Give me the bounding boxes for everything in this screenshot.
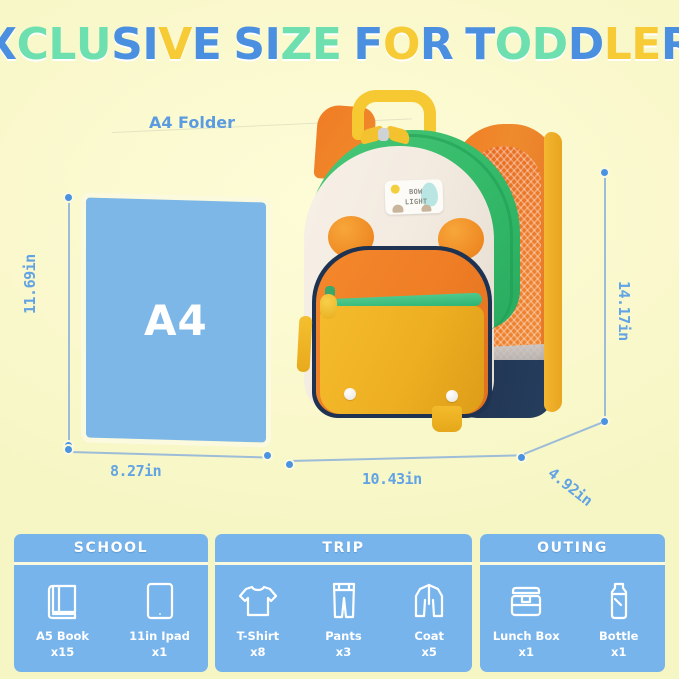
panel-header-outing: OUTING xyxy=(480,534,665,562)
backpack-snap-left xyxy=(344,388,356,400)
a4-folder-face-text: A4 xyxy=(144,295,208,344)
size-comparison-stage: A4 Folder A4 11.69in 8.27in BOWLIGHT xyxy=(0,80,679,520)
a4-height-dimension-line xyxy=(68,197,70,445)
item-qty: x15 xyxy=(51,645,74,661)
title-letter xyxy=(221,23,233,67)
title-letter: S xyxy=(233,23,264,67)
list-item: Pants x3 xyxy=(301,579,387,660)
a4-width-dot-right xyxy=(262,450,273,461)
a4-width-dot-left xyxy=(63,444,74,455)
a4-width-label: 8.27in xyxy=(110,462,161,480)
book-icon xyxy=(46,579,80,623)
item-label: Bottle xyxy=(599,629,638,645)
list-item: Bottle x1 xyxy=(576,579,662,660)
backpack-zipper-pull xyxy=(320,294,337,319)
panel-header-school: SCHOOL xyxy=(14,534,208,562)
item-label: A5 Book xyxy=(36,629,89,645)
title-letter xyxy=(341,23,353,67)
page-title: EXCLUSIVE SIZE FOR TODDLERS xyxy=(0,16,679,74)
title-letter: L xyxy=(604,23,632,67)
backpack-height-dot-top xyxy=(599,167,610,178)
item-qty: x3 xyxy=(336,645,351,661)
item-label: Coat xyxy=(414,629,444,645)
panel-title-outing: OUTING xyxy=(537,540,608,556)
title-letter: U xyxy=(76,23,111,67)
capacity-panel-outing: OUTING Lunch Box x1 xyxy=(480,534,665,672)
title-letter: R xyxy=(420,23,453,67)
panel-title-trip: TRIP xyxy=(322,540,364,556)
item-label: 11in Ipad xyxy=(129,629,190,645)
backpack-width-dot-left xyxy=(284,459,295,470)
panel-body-outing: Lunch Box x1 Bottle x1 xyxy=(480,565,665,672)
a4-height-label: 11.69in xyxy=(21,254,39,314)
list-item: 11in Ipad x1 xyxy=(117,579,203,660)
title-letter: X xyxy=(0,23,17,67)
title-letter: E xyxy=(192,23,222,67)
item-qty: x8 xyxy=(250,645,265,661)
title-letter: R xyxy=(661,23,679,67)
title-letter xyxy=(453,23,465,67)
patch-rock-right xyxy=(421,204,431,211)
capacity-panel-trip: TRIP T-Shirt x8 xyxy=(215,534,472,672)
title-letter: E xyxy=(312,23,342,67)
lunchbox-icon xyxy=(507,579,545,623)
bottle-icon xyxy=(607,579,631,623)
title-letter: D xyxy=(532,23,568,67)
a4-height-dot-top xyxy=(63,192,74,203)
list-item: T-Shirt x8 xyxy=(215,579,301,660)
backpack-height-dimension-line xyxy=(604,172,606,420)
title-letter: S xyxy=(111,23,142,67)
backpack-snap-right xyxy=(446,390,458,402)
backpack-bow-center xyxy=(378,128,389,141)
title-letter: O xyxy=(383,23,420,67)
panel-header-trip: TRIP xyxy=(215,534,472,562)
title-letter: C xyxy=(17,23,49,67)
item-qty: x1 xyxy=(519,645,534,661)
title-letter: D xyxy=(568,23,604,67)
item-qty: x1 xyxy=(611,645,626,661)
a4-width-dimension-line xyxy=(70,451,270,458)
page-title-text: EXCLUSIVE SIZE FOR TODDLERS xyxy=(0,23,679,67)
title-letter: O xyxy=(495,23,532,67)
pants-icon xyxy=(329,579,359,623)
title-letter: I xyxy=(142,23,158,67)
title-letter: V xyxy=(158,23,192,67)
backpack-yellow-trim xyxy=(544,132,562,412)
item-label: Lunch Box xyxy=(493,629,560,645)
list-item: Lunch Box x1 xyxy=(483,579,569,660)
title-letter: T xyxy=(465,23,495,67)
tablet-icon xyxy=(145,579,175,623)
title-letter: L xyxy=(48,23,76,67)
backpack-bottom-strap xyxy=(432,406,462,432)
item-label: T-Shirt xyxy=(237,629,280,645)
coat-icon xyxy=(413,579,445,623)
tshirt-icon xyxy=(238,579,278,623)
a4-folder-label: A4 Folder xyxy=(112,113,272,132)
a4-folder-sheet: A4 xyxy=(86,197,266,442)
title-letter: Z xyxy=(280,23,311,67)
panel-body-school: A5 Book x15 11in Ipad x1 xyxy=(14,565,208,672)
item-qty: x1 xyxy=(152,645,167,661)
list-item: Coat x5 xyxy=(386,579,472,660)
title-letter: F xyxy=(353,23,383,67)
title-letter: E xyxy=(631,23,661,67)
panel-title-school: SCHOOL xyxy=(74,540,148,556)
item-qty: x5 xyxy=(421,645,436,661)
capacity-panels: SCHOOL A5 Book x15 xyxy=(0,534,679,674)
list-item: A5 Book x15 xyxy=(20,579,106,660)
backpack-depth-label: 4.92in xyxy=(544,464,595,510)
panel-body-trip: T-Shirt x8 Pants x3 xyxy=(215,565,472,672)
title-letter: I xyxy=(265,23,281,67)
backpack-width-label: 10.43in xyxy=(362,470,422,488)
backpack-product-image: BOWLIGHT xyxy=(300,88,600,458)
item-label: Pants xyxy=(325,629,361,645)
backpack-logo-patch: BOWLIGHT xyxy=(384,179,443,215)
patch-rock-left xyxy=(392,204,403,212)
backpack-height-label: 14.17in xyxy=(615,281,633,341)
capacity-panel-school: SCHOOL A5 Book x15 xyxy=(14,534,208,672)
